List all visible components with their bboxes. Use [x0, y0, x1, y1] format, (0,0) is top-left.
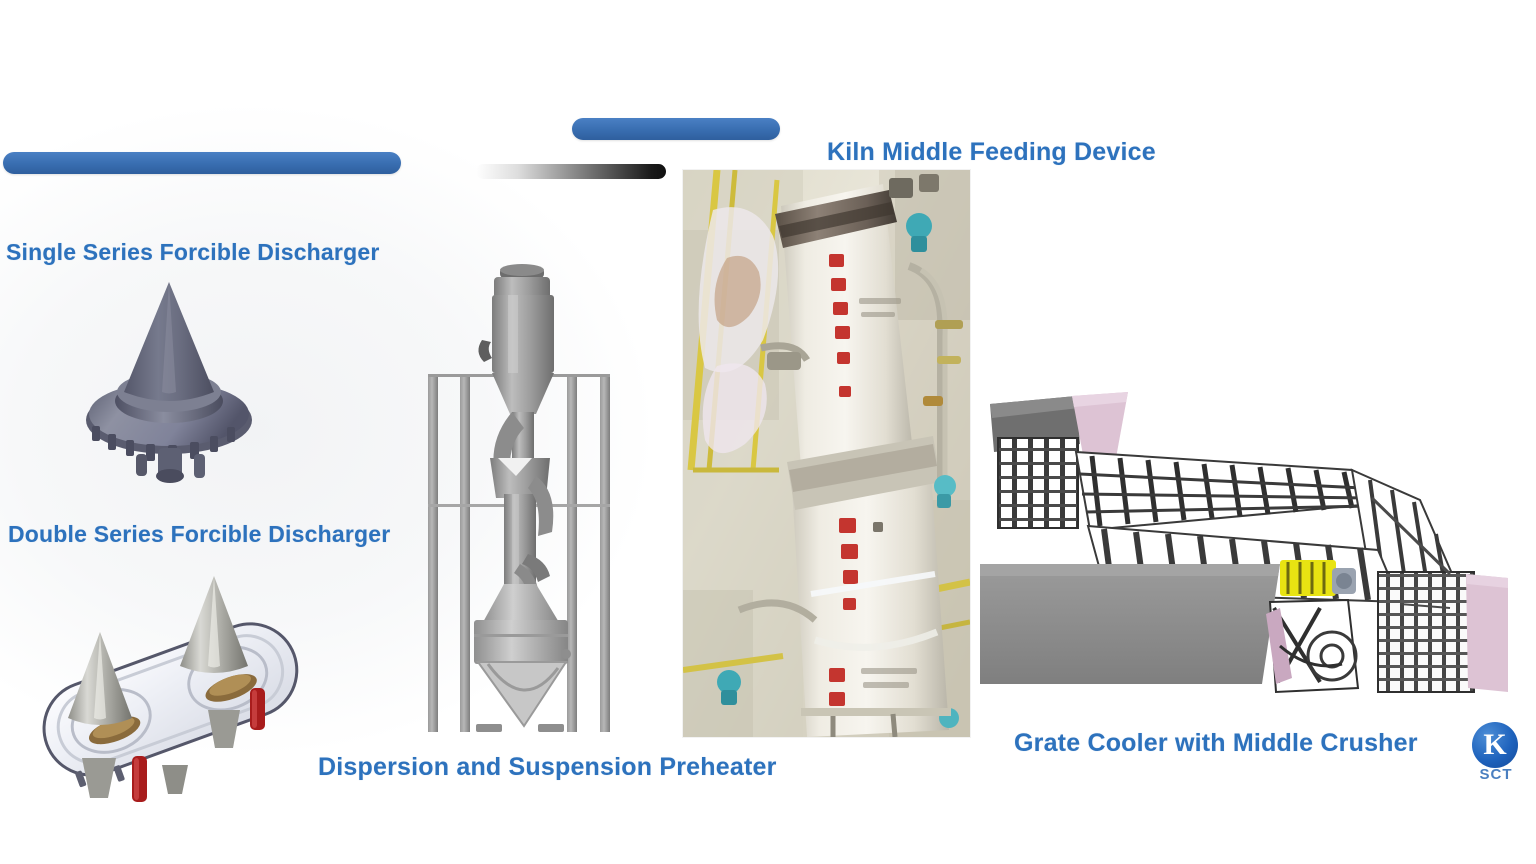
caption-dispersion-and-suspension-preheater: Dispersion and Suspension Preheater — [318, 753, 777, 782]
blue-divider-bar-top — [572, 118, 780, 140]
logo-letter-k: K — [1472, 722, 1518, 768]
preheater-tower-icon — [420, 262, 636, 740]
caption-kiln-middle-feeding-device: Kiln Middle Feeding Device — [827, 138, 1156, 167]
blue-divider-bar-left — [3, 152, 401, 174]
sct-logo: K SCT — [1468, 722, 1530, 786]
caption-double-series-forcible-discharger: Double Series Forcible Discharger — [8, 521, 390, 548]
caption-single-series-forcible-discharger: Single Series Forcible Discharger — [6, 239, 379, 266]
dual-cone-discharger-icon — [12, 560, 322, 810]
single-series-forcible-discharger-image — [72, 268, 272, 488]
logo-wordmark: SCT — [1468, 766, 1524, 783]
double-series-forcible-discharger-image — [12, 560, 322, 810]
dark-gradient-bar — [476, 164, 666, 179]
rotary-kiln-photo — [683, 170, 970, 737]
grate-cooler-icon — [980, 392, 1508, 722]
cone-discharger-icon — [72, 268, 272, 488]
dispersion-and-suspension-preheater-image — [420, 262, 636, 740]
caption-grate-cooler-with-middle-crusher: Grate Cooler with Middle Crusher — [1014, 729, 1418, 758]
grate-cooler-with-middle-crusher-image — [980, 392, 1508, 722]
slide-canvas: Single Series Forcible Discharger Double… — [0, 0, 1536, 864]
kiln-middle-feeding-device-photo — [683, 170, 970, 737]
